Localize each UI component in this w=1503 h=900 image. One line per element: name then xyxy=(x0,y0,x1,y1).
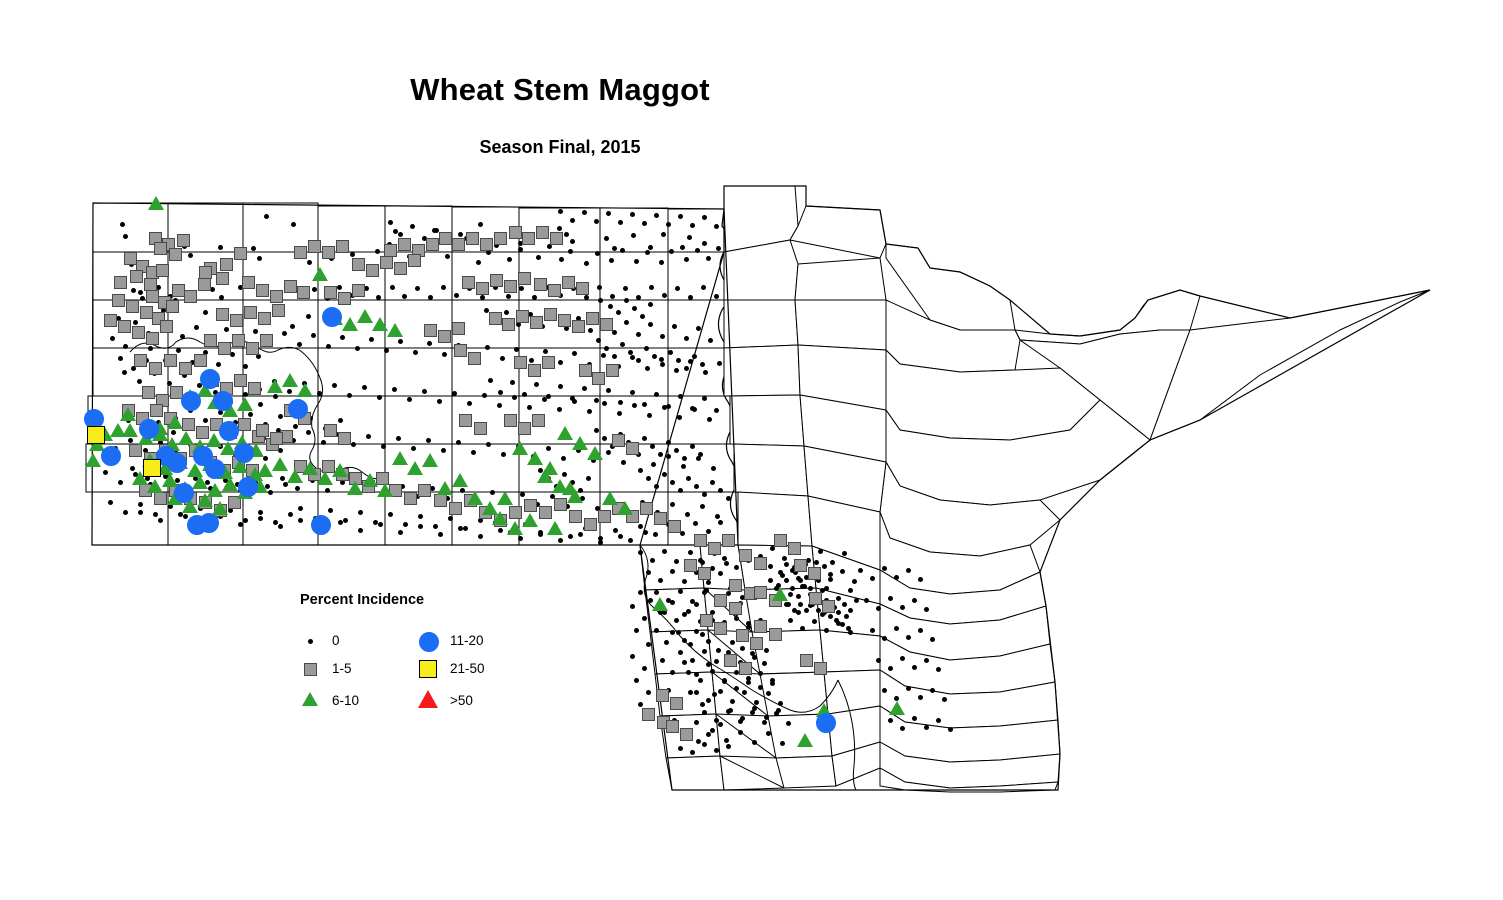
legend-symbol-triangle-icon xyxy=(416,688,446,714)
legend-symbol-circle-icon xyxy=(416,628,446,654)
minnesota-counties xyxy=(640,186,1430,792)
map-page: Wheat Stem Maggot Season Final, 2015 xyxy=(0,0,1503,900)
map-canvas xyxy=(0,0,1503,900)
legend-title: Percent Incidence xyxy=(300,592,424,608)
legend: Percent Incidence 01-56-1011-2021-50>50 xyxy=(268,588,518,728)
legend-item--50[interactable]: >50 xyxy=(416,688,446,714)
legend-label: 0 xyxy=(332,633,340,648)
legend-item-6-10[interactable]: 6-10 xyxy=(298,688,328,714)
legend-symbol-triangle-icon xyxy=(298,688,328,714)
legend-item-11-20[interactable]: 11-20 xyxy=(416,628,446,654)
north-dakota-counties xyxy=(86,203,738,545)
legend-item-1-5[interactable]: 1-5 xyxy=(298,656,328,682)
legend-label: 21-50 xyxy=(450,661,485,676)
legend-label: 1-5 xyxy=(332,661,352,676)
legend-item-0[interactable]: 0 xyxy=(298,628,328,654)
legend-symbol-dot-icon xyxy=(298,628,328,654)
legend-symbol-square-icon xyxy=(416,656,446,682)
legend-item-21-50[interactable]: 21-50 xyxy=(416,656,446,682)
legend-label: 11-20 xyxy=(450,633,484,648)
map-svg xyxy=(0,0,1503,900)
legend-label: >50 xyxy=(450,693,473,708)
legend-label: 6-10 xyxy=(332,693,359,708)
legend-symbol-square-icon xyxy=(298,656,328,682)
